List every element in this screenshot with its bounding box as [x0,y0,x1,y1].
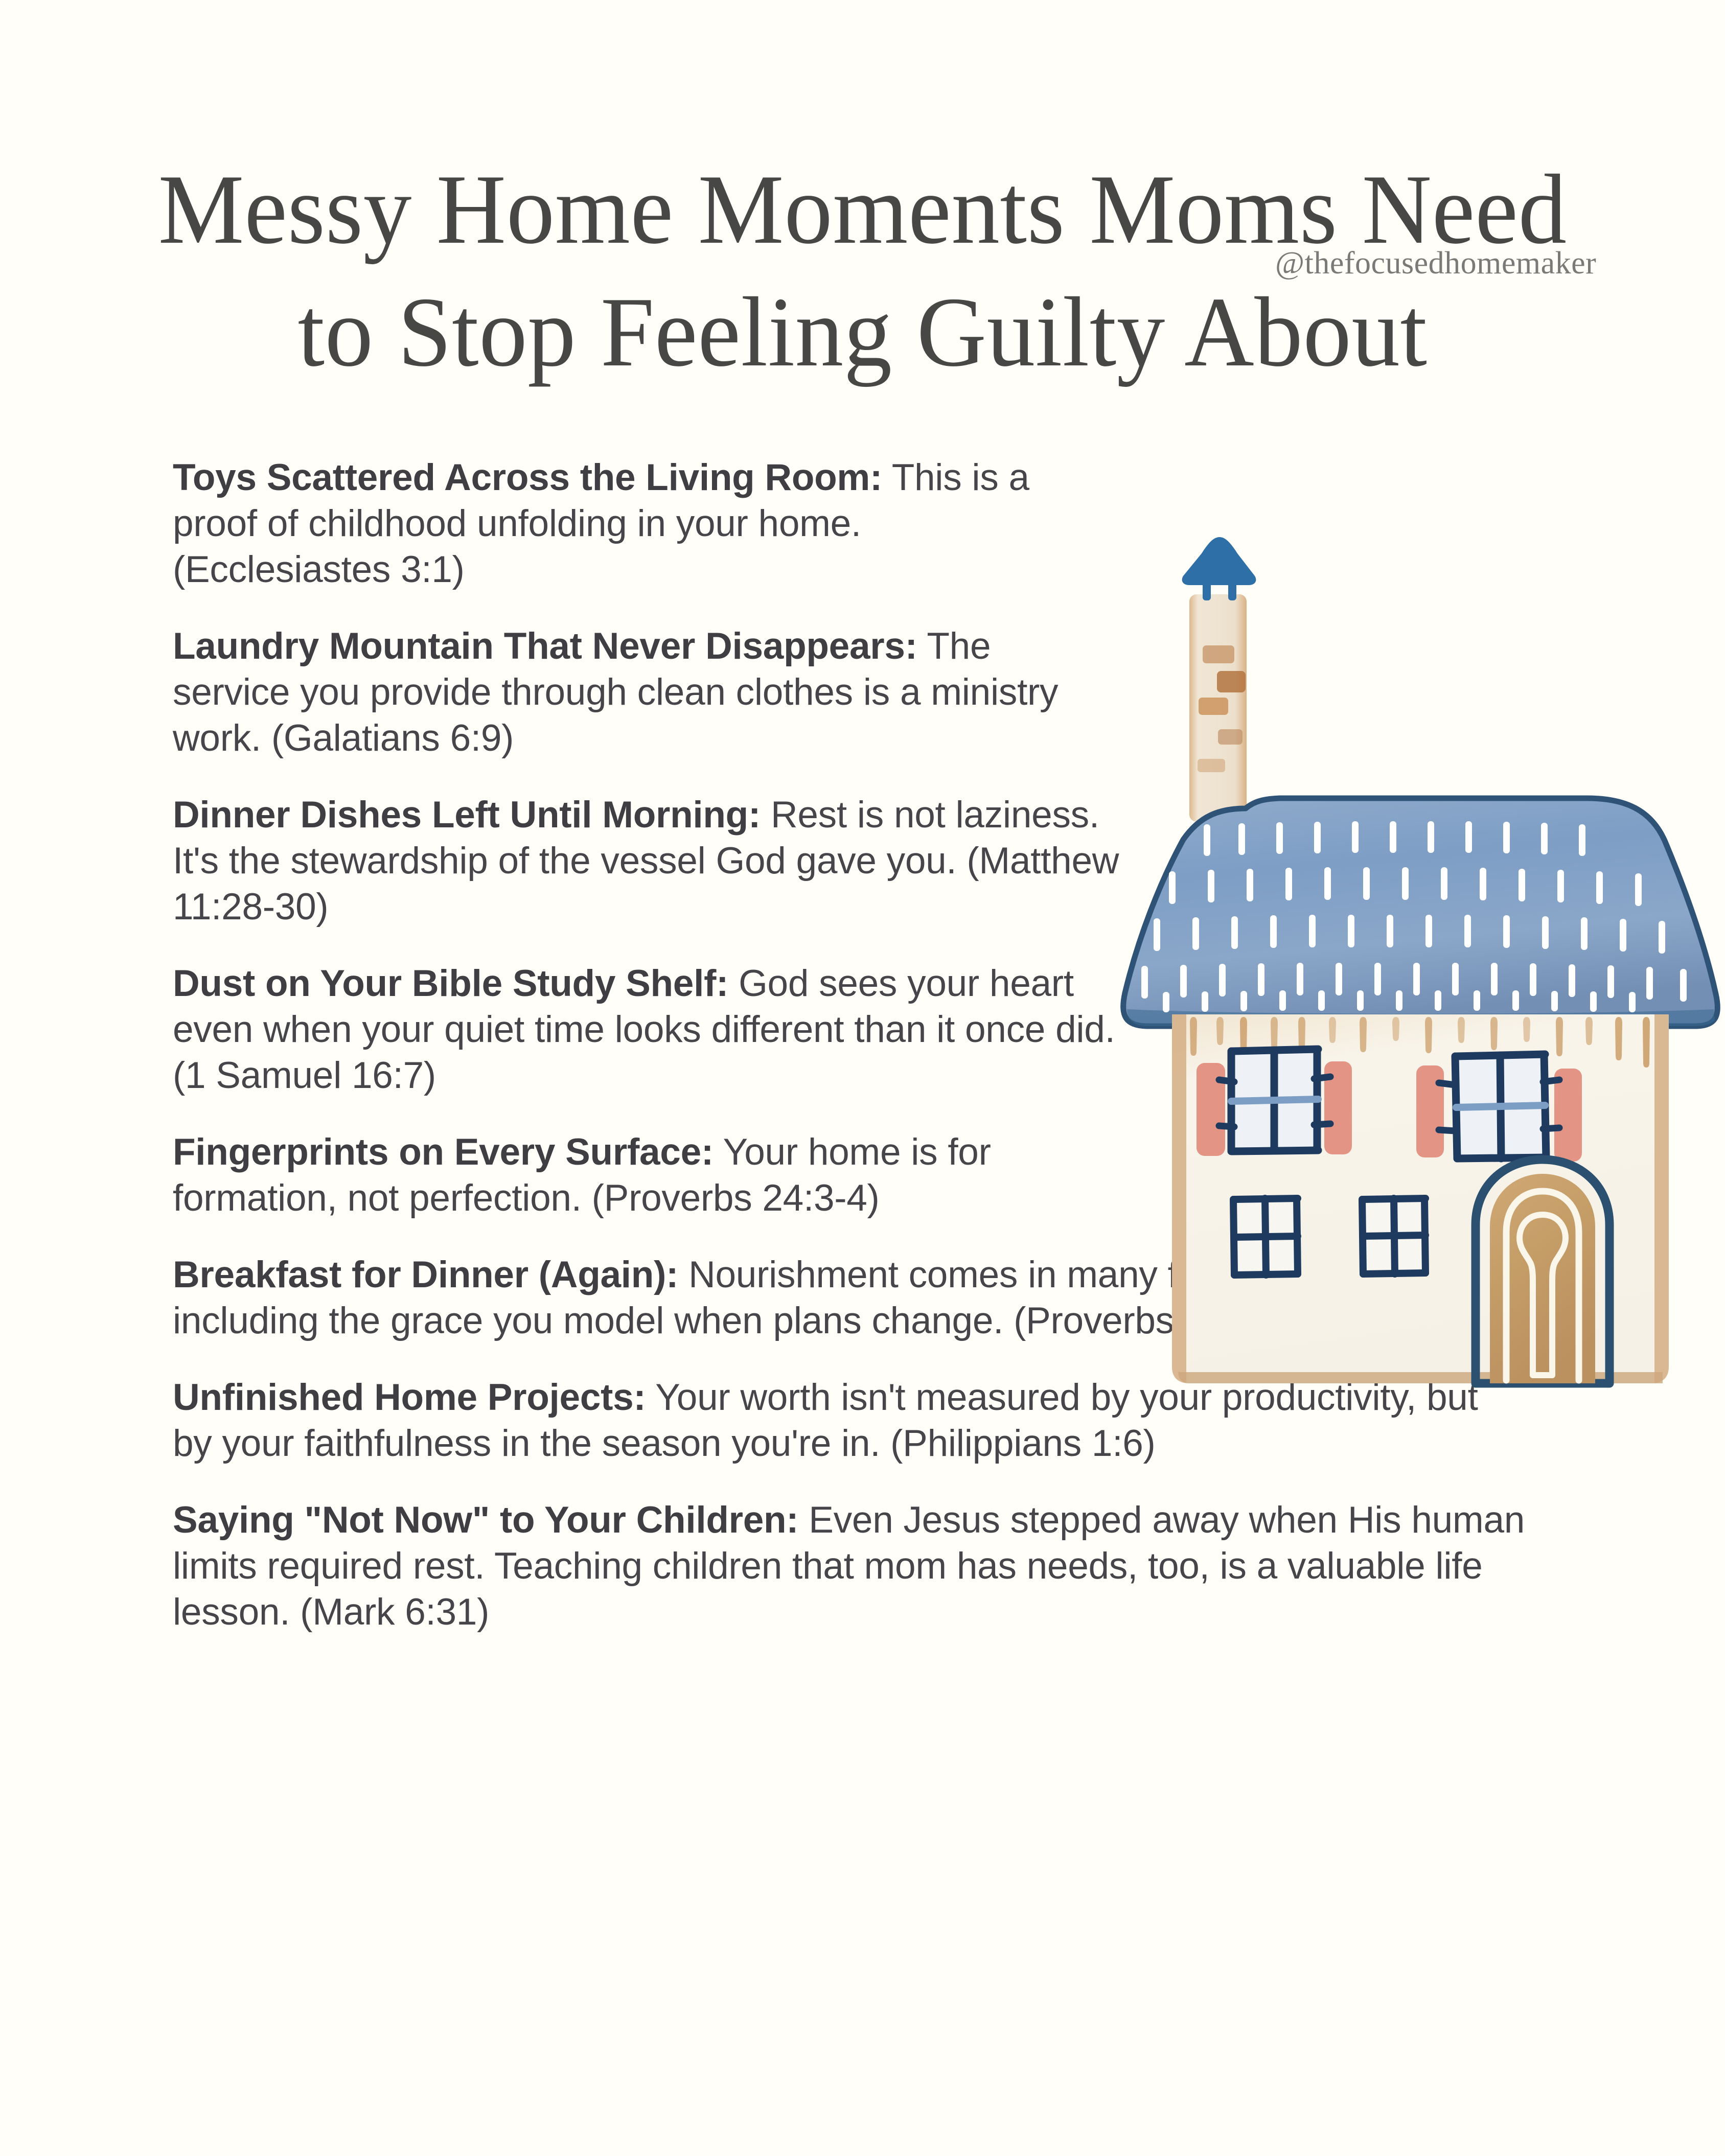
house-svg [1112,534,1725,1403]
roof-shape [1123,798,1718,1026]
roof [1123,798,1718,1026]
chimney-brick [1198,759,1225,772]
window-lower-middle [1362,1198,1425,1275]
chimney-brick [1199,698,1228,715]
list-item-lede: Unfinished Home Projects: [173,1377,646,1418]
watercolor-house-illustration [1112,534,1725,1403]
list-item-lede: Toys Scattered Across the Living Room: [173,457,882,498]
window-upper-left [1197,1049,1352,1156]
list-item-lede: Dust on Your Bible Study Shelf: [173,963,728,1004]
list-item: Saying "Not Now" to Your Children: Even … [173,1497,1563,1635]
list-item-lede: Dinner Dishes Left Until Morning: [173,794,761,836]
list-item-lede: Saying "Not Now" to Your Children: [173,1499,798,1541]
page-title-line-2: to Stop Feeling Guilty About [26,271,1699,393]
list-item: Toys Scattered Across the Living Room: T… [173,455,1072,593]
window-mullion [1456,1105,1545,1107]
list-item-lede: Fingerprints on Every Surface: [173,1131,714,1173]
list-item-lede: Laundry Mountain That Never Disappears: [173,625,917,667]
list-item: Fingerprints on Every Surface: Your home… [173,1129,1021,1221]
shutter-left [1416,1065,1444,1157]
window-lower-left [1233,1198,1298,1276]
list-item: Dinner Dishes Left Until Morning: Rest i… [173,792,1123,930]
chimney-brick [1217,671,1246,692]
chimney-cap [1182,537,1256,585]
window-mullion [1231,1099,1318,1101]
house-body [1172,1014,1669,1383]
watermark-handle: @thefocusedhomemaker [1275,245,1596,282]
chimney-brick [1218,729,1243,745]
list-item: Dust on Your Bible Study Shelf: God sees… [173,961,1144,1099]
list-item: Laundry Mountain That Never Disappears: … [173,623,1093,761]
list-item-lede: Breakfast for Dinner (Again): [173,1254,678,1295]
chimney-brick [1203,645,1234,663]
chimney [1182,537,1256,822]
